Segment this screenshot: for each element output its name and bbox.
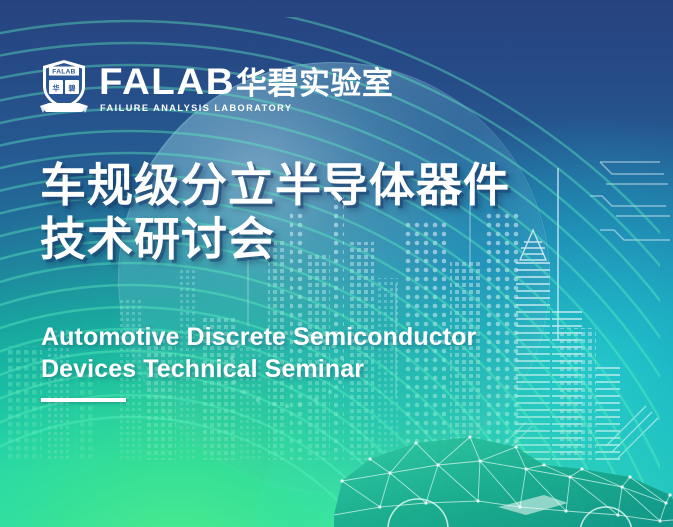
page-title: 车规级分立半导体器件 技术研讨会 xyxy=(40,158,510,267)
wordmark-chinese: 华碧实验室 xyxy=(236,69,394,100)
wordmark-latin: FALAB xyxy=(99,63,235,100)
page-subtitle: Automotive Discrete Semiconductor Device… xyxy=(41,322,476,386)
shield-with-open-book-icon: FALAB 华 碧 xyxy=(38,58,90,116)
brand-logo[interactable]: FALAB 华 碧 FALAB 华碧实验室 FAILURE ANALY xyxy=(38,58,393,116)
svg-text:FALAB: FALAB xyxy=(52,69,75,76)
headline-line-2: 技术研讨会 xyxy=(40,212,510,266)
brand-tagline: FAILURE ANALYSIS LABORATORY xyxy=(100,103,393,113)
poster-canvas: FALAB 华 碧 FALAB 华碧实验室 FAILURE ANALY xyxy=(0,0,673,527)
subtitle-line-2: Devices Technical Seminar xyxy=(41,354,476,386)
accent-rule xyxy=(41,398,126,402)
subtitle-line-1: Automotive Discrete Semiconductor xyxy=(41,322,476,354)
brand-wordmark: FALAB 华碧实验室 FAILURE ANALYSIS LABORATORY xyxy=(99,61,393,113)
svg-text:华: 华 xyxy=(53,84,60,93)
headline-line-1: 车规级分立半导体器件 xyxy=(40,158,510,212)
low-poly-car-graphic xyxy=(330,403,673,527)
ribbon-banner-icon xyxy=(40,103,88,113)
svg-text:碧: 碧 xyxy=(68,84,76,93)
